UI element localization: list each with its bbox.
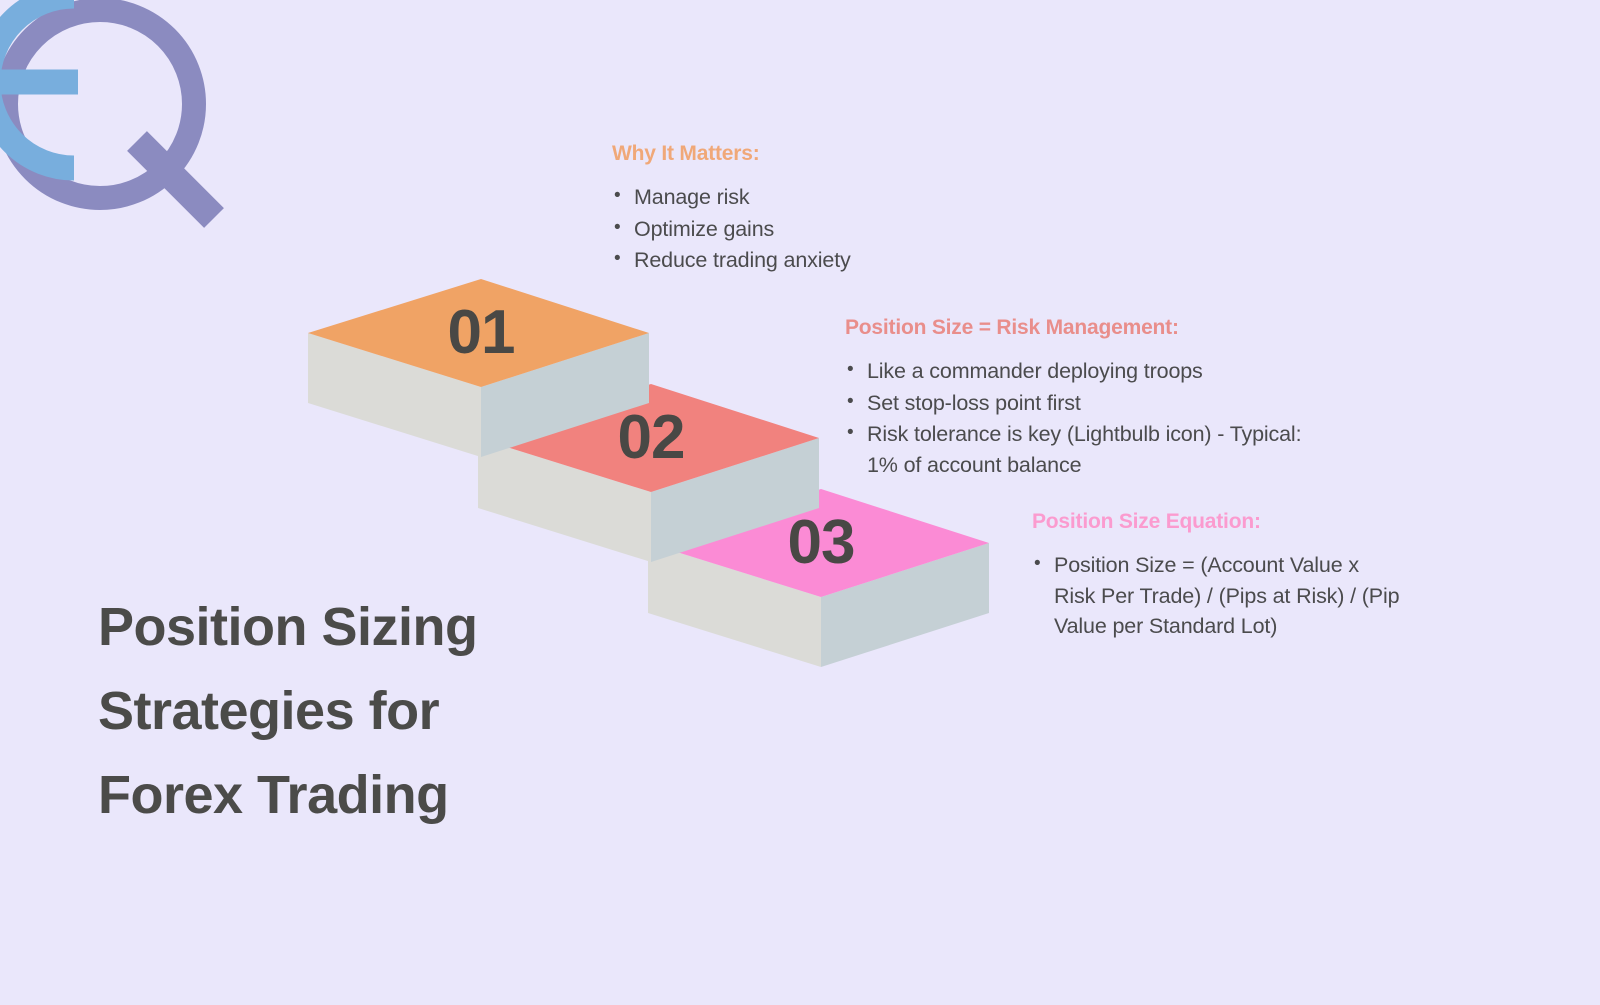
why-it-matters-heading: Why It Matters: — [612, 142, 942, 166]
step-03-number: 03 — [788, 508, 855, 577]
bullet-text: Risk tolerance is key (Lightbulb icon) -… — [867, 422, 1301, 446]
bullet-text: Optimize gains — [634, 217, 774, 241]
step-03-top-face — [648, 489, 989, 597]
text-block-risk-management: Position Size = Risk Management: Like a … — [845, 316, 1405, 481]
step-01-top-face — [308, 279, 649, 387]
text-block-why-it-matters: Why It Matters: Manage risk Optimize gai… — [612, 142, 942, 277]
bullet-text: Set stop-loss point first — [867, 391, 1081, 415]
risk-management-list: Like a commander deploying troops Set st… — [845, 356, 1405, 480]
infographic-canvas: 03 02 01 Why It Matters: Manage risk Opt… — [0, 0, 1600, 1005]
list-item: Optimize gains — [612, 214, 942, 245]
text-block-position-size-equation: Position Size Equation: Position Size = … — [1032, 510, 1432, 643]
step-block-02: 02 — [478, 384, 819, 562]
step-01-number: 01 — [448, 298, 515, 367]
why-it-matters-list: Manage risk Optimize gains Reduce tradin… — [612, 182, 942, 276]
list-item: Risk tolerance is key (Lightbulb icon) -… — [845, 419, 1405, 480]
step-block-01: 01 — [308, 279, 649, 457]
step-01-left-face — [308, 333, 481, 457]
position-size-equation-heading: Position Size Equation: — [1032, 510, 1432, 534]
bullet-text-continuation: 1% of account balance — [867, 450, 1405, 481]
step-02-top-face — [478, 384, 819, 492]
bullet-text: Manage risk — [634, 185, 749, 209]
step-02-left-face — [478, 438, 651, 562]
list-item: Like a commander deploying troops — [845, 356, 1405, 387]
risk-management-heading: Position Size = Risk Management: — [845, 316, 1405, 340]
page-title-line-3: Forex Trading — [98, 753, 658, 837]
step-02-number: 02 — [618, 403, 685, 472]
bullet-text: Position Size = (Account Value x — [1054, 553, 1359, 577]
step-03-left-face — [648, 543, 821, 667]
page-title: Position Sizing Strategies for Forex Tra… — [98, 585, 658, 837]
step-block-03: 03 — [648, 489, 989, 667]
page-title-line-2: Strategies for — [98, 669, 658, 753]
step-02-right-face — [651, 438, 819, 562]
position-size-equation-list: Position Size = (Account Value x Risk Pe… — [1032, 550, 1432, 642]
list-item: Position Size = (Account Value x Risk Pe… — [1032, 550, 1432, 642]
logo-q-glyph — [6, 10, 214, 218]
list-item: Set stop-loss point first — [845, 388, 1405, 419]
step-03-right-face — [821, 543, 989, 667]
bullet-text-continuation: Risk Per Trade) / (Pips at Risk) / (Pip … — [1054, 581, 1432, 642]
bullet-text: Like a commander deploying troops — [867, 359, 1203, 383]
sq-monogram-logo — [0, 0, 250, 254]
step-01-right-face — [481, 333, 649, 457]
page-title-line-1: Position Sizing — [98, 585, 658, 669]
list-item: Manage risk — [612, 182, 942, 213]
bullet-text: Reduce trading anxiety — [634, 248, 851, 272]
list-item: Reduce trading anxiety — [612, 245, 942, 276]
